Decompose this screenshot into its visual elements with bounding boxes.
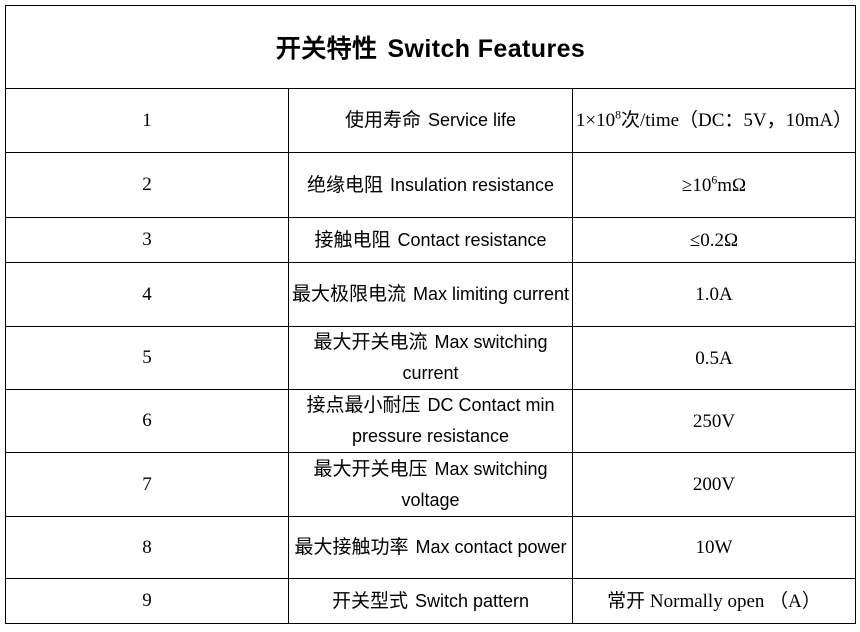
row-description: 接点最小耐压DC Contact min pressure resistance xyxy=(289,390,573,453)
table-row: 2 绝缘电阻Insulation resistance ≥106mΩ xyxy=(6,153,856,218)
row-description: 使用寿命Service life xyxy=(289,89,573,153)
table-row: 7 最大开关电压Max switching voltage 200V xyxy=(6,453,856,517)
row-number: 5 xyxy=(6,327,289,390)
row-value-prefix: 1×10 xyxy=(576,110,615,131)
row-description-en: Contact resistance xyxy=(397,230,546,250)
table-row: 3 接触电阻Contact resistance ≤0.2Ω xyxy=(6,218,856,263)
row-description: 绝缘电阻Insulation resistance xyxy=(289,153,573,218)
row-value-prefix: 200V xyxy=(693,474,735,495)
row-value-prefix: 250V xyxy=(693,411,735,432)
row-value: ≥106mΩ xyxy=(573,153,856,218)
row-value-prefix: ≤0.2Ω xyxy=(690,230,738,251)
row-description-cn: 接触电阻 xyxy=(314,230,390,251)
row-value: 250V xyxy=(573,390,856,453)
row-value-suffix: mΩ xyxy=(717,175,746,196)
row-number: 1 xyxy=(6,89,289,153)
page-title-en: Switch Features xyxy=(387,35,585,63)
row-value: ≤0.2Ω xyxy=(573,218,856,263)
row-value-suffix: 次/time（DC：5V，10mA） xyxy=(621,110,852,131)
row-description-cn: 使用寿命 xyxy=(345,110,421,131)
page-title-cn: 开关特性 xyxy=(276,36,378,63)
row-description-cn: 接点最小耐压 xyxy=(306,395,420,416)
row-description-en: Switch pattern xyxy=(415,591,529,611)
row-number: 9 xyxy=(6,579,289,624)
row-number: 6 xyxy=(6,390,289,453)
page-title: 开关特性Switch Features xyxy=(6,6,856,89)
row-description-cn: 最大开关电流 xyxy=(313,332,427,353)
row-value-prefix: ≥10 xyxy=(682,175,711,196)
row-description-cn: 最大开关电压 xyxy=(313,459,427,480)
row-value-prefix: 1.0A xyxy=(695,284,732,305)
row-value: 1.0A xyxy=(573,263,856,327)
row-number: 7 xyxy=(6,453,289,517)
row-value-prefix: 常开 Normally open （A） xyxy=(607,591,821,612)
row-number: 2 xyxy=(6,153,289,218)
row-value-prefix: 0.5A xyxy=(695,348,732,369)
table-row: 4 最大极限电流Max limiting current 1.0A xyxy=(6,263,856,327)
spec-sheet: 开关特性Switch Features 1 使用寿命Service life 1… xyxy=(5,5,855,625)
table-row: 9 开关型式Switch pattern 常开 Normally open （A… xyxy=(6,579,856,624)
row-description-en: Insulation resistance xyxy=(390,175,554,195)
row-value: 常开 Normally open （A） xyxy=(573,579,856,624)
table-row: 8 最大接触功率Max contact power 10W xyxy=(6,517,856,579)
row-description: 最大开关电流Max switching current xyxy=(289,327,573,390)
table-title-row: 开关特性Switch Features xyxy=(6,6,856,89)
row-description-cn: 开关型式 xyxy=(332,591,408,612)
row-value-prefix: 10W xyxy=(696,537,733,558)
row-description: 最大开关电压Max switching voltage xyxy=(289,453,573,517)
row-description-en: Max contact power xyxy=(415,537,566,557)
row-description: 开关型式Switch pattern xyxy=(289,579,573,624)
row-description-en: Service life xyxy=(428,110,516,130)
row-value: 10W xyxy=(573,517,856,579)
row-description-cn: 绝缘电阻 xyxy=(307,175,383,196)
row-description: 接触电阻Contact resistance xyxy=(289,218,573,263)
row-number: 4 xyxy=(6,263,289,327)
row-number: 8 xyxy=(6,517,289,579)
row-number: 3 xyxy=(6,218,289,263)
row-value: 200V xyxy=(573,453,856,517)
row-value: 0.5A xyxy=(573,327,856,390)
switch-features-table: 开关特性Switch Features 1 使用寿命Service life 1… xyxy=(5,5,856,624)
table-row: 6 接点最小耐压DC Contact min pressure resistan… xyxy=(6,390,856,453)
table-row: 1 使用寿命Service life 1×108次/time（DC：5V，10m… xyxy=(6,89,856,153)
row-description: 最大极限电流Max limiting current xyxy=(289,263,573,327)
row-description-en: Max limiting current xyxy=(413,284,569,304)
row-value: 1×108次/time（DC：5V，10mA） xyxy=(573,89,856,153)
row-description: 最大接触功率Max contact power xyxy=(289,517,573,579)
row-description-cn: 最大极限电流 xyxy=(292,284,406,305)
row-description-cn: 最大接触功率 xyxy=(294,537,408,558)
table-row: 5 最大开关电流Max switching current 0.5A xyxy=(6,327,856,390)
